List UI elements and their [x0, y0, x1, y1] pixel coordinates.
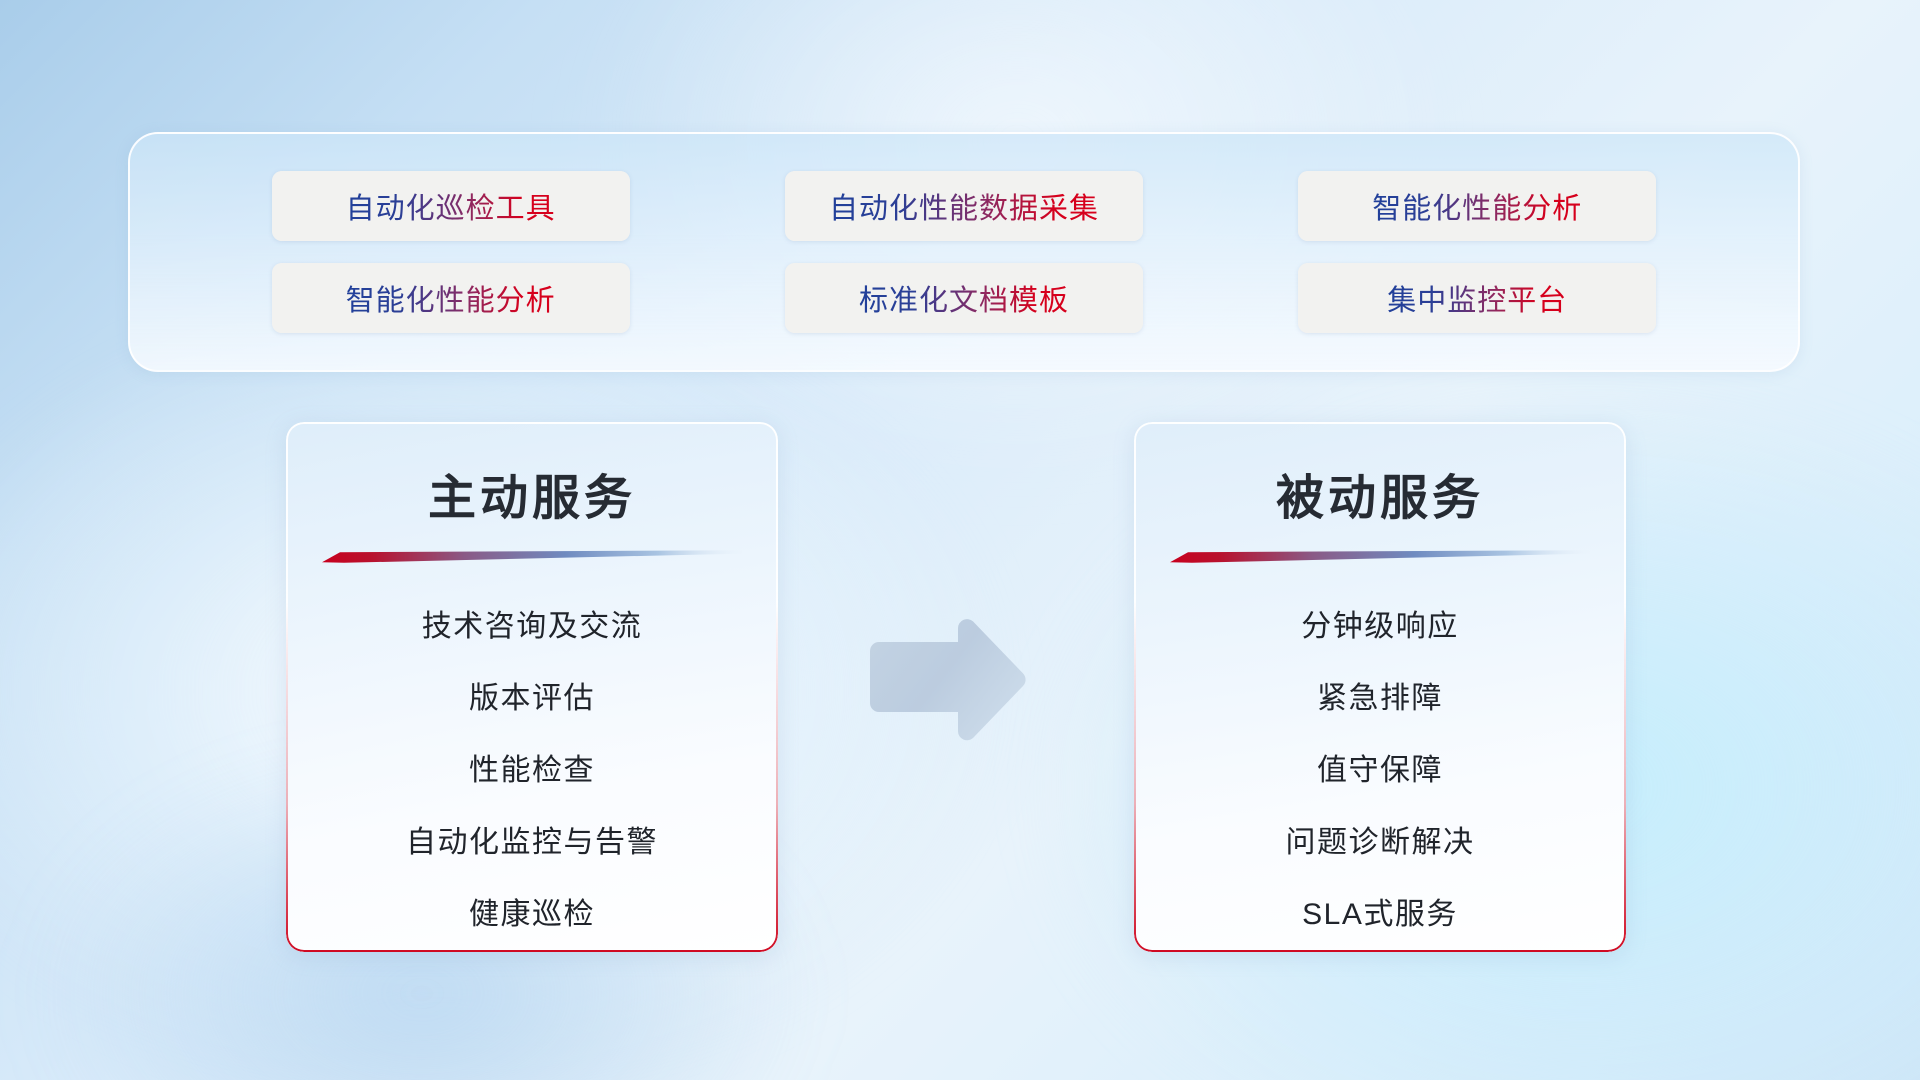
capability-chip-6-surface: 集中监控平台	[1298, 263, 1656, 333]
list-item: 自动化监控与告警	[286, 826, 778, 859]
list-item: 问题诊断解决	[1134, 826, 1626, 859]
list-item: 性能检查	[286, 754, 778, 787]
capability-chip-1-surface: 自动化巡检工具	[272, 171, 630, 241]
capability-chip-4-label: 智能化性能分析	[346, 277, 556, 319]
capability-chip-2-label: 自动化性能数据采集	[829, 185, 1099, 227]
list-item: 紧急排障	[1134, 682, 1626, 715]
passive-service-divider-icon	[1170, 550, 1590, 563]
passive-service-list: 分钟级响应 紧急排障 值守保障 问题诊断解决 SLA式服务	[1134, 594, 1626, 928]
capability-chip-5[interactable]: 标准化文档模板	[785, 263, 1143, 333]
capability-chip-3-surface: 智能化性能分析	[1298, 171, 1656, 241]
capability-chip-4-surface: 智能化性能分析	[272, 263, 630, 333]
list-item: 健康巡检	[286, 898, 778, 931]
capability-chip-5-label: 标准化文档模板	[859, 277, 1069, 319]
capability-chip-grid: 自动化巡检工具 自动化性能数据采集 智能化性能分析 智能化性能分析	[130, 134, 1798, 370]
capability-chip-1[interactable]: 自动化巡检工具	[272, 171, 630, 241]
slide-canvas: 自动化巡检工具 自动化性能数据采集 智能化性能分析 智能化性能分析	[0, 0, 1920, 1080]
capability-chip-4[interactable]: 智能化性能分析	[272, 263, 630, 333]
capability-chip-6-label: 集中监控平台	[1387, 277, 1567, 319]
passive-service-title: 被动服务	[1134, 458, 1626, 528]
list-item: SLA式服务	[1134, 898, 1626, 931]
active-service-list: 技术咨询及交流 版本评估 性能检查 自动化监控与告警 健康巡检	[286, 594, 778, 928]
right-arrow-icon	[862, 612, 1032, 742]
capability-chip-5-surface: 标准化文档模板	[785, 263, 1143, 333]
list-item: 值守保障	[1134, 754, 1626, 787]
capability-chip-1-label: 自动化巡检工具	[346, 185, 556, 227]
list-item: 版本评估	[286, 682, 778, 715]
active-service-title: 主动服务	[286, 458, 778, 528]
capability-chip-panel: 自动化巡检工具 自动化性能数据采集 智能化性能分析 智能化性能分析	[128, 132, 1800, 372]
list-item: 分钟级响应	[1134, 610, 1626, 643]
active-service-card[interactable]: 主动服务 技术咨询及交流 版本评估 性能检查 自动化监控与告警 健康巡检	[286, 422, 778, 952]
capability-chip-3-label: 智能化性能分析	[1372, 185, 1582, 227]
capability-chip-6[interactable]: 集中监控平台	[1298, 263, 1656, 333]
capability-chip-3[interactable]: 智能化性能分析	[1298, 171, 1656, 241]
capability-chip-2-surface: 自动化性能数据采集	[785, 171, 1143, 241]
list-item: 技术咨询及交流	[286, 610, 778, 643]
capability-chip-2[interactable]: 自动化性能数据采集	[785, 171, 1143, 241]
passive-service-card[interactable]: 被动服务 分钟级响应 紧急排障 值守保障 问题诊断解决 SLA式服务	[1134, 422, 1626, 952]
active-service-divider-icon	[322, 550, 742, 563]
